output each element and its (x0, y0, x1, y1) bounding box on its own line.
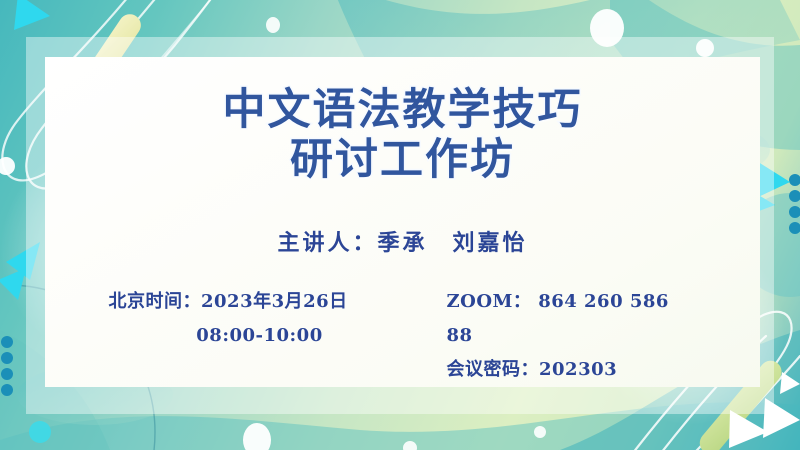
card-content: 中文语法教学技巧 研讨工作坊 主讲人：季承 刘嘉怡 北京时间：2023年3月26… (45, 57, 760, 387)
zoom-id: ZOOM： 864 260 586 88 (447, 285, 697, 353)
page-title: 中文语法教学技巧 研讨工作坊 (45, 85, 760, 185)
info-column-zoom: ZOOM： 864 260 586 88 会议密码：202303 (447, 285, 697, 387)
poster-canvas: 中文语法教学技巧 研讨工作坊 主讲人：季承 刘嘉怡 北京时间：2023年3月26… (0, 0, 800, 450)
zoom-passcode: 会议密码：202303 (447, 353, 697, 387)
meeting-time: 08:00-10:00 (109, 319, 389, 353)
meeting-date: 北京时间：2023年3月26日 (109, 285, 389, 319)
speaker-line: 主讲人：季承 刘嘉怡 (45, 225, 760, 257)
info-column-time: 北京时间：2023年3月26日 08:00-10:00 (109, 285, 389, 387)
title-line-2: 研讨工作坊 (45, 135, 760, 185)
title-line-1: 中文语法教学技巧 (223, 85, 583, 135)
info-block: 北京时间：2023年3月26日 08:00-10:00 ZOOM： 864 26… (45, 285, 760, 387)
